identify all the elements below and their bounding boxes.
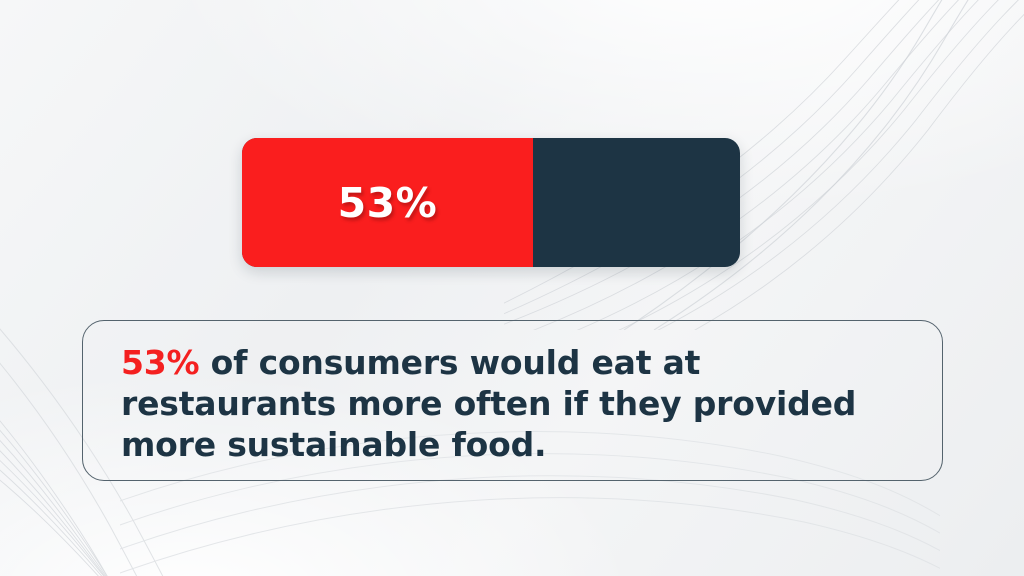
infographic-canvas: 53% 53% of consumers would eat at restau…: [0, 0, 1024, 576]
statement-card: 53% of consumers would eat at restaurant…: [82, 320, 943, 481]
percentage-bar: 53%: [242, 138, 740, 267]
statement-highlight: 53%: [121, 343, 199, 382]
statement-text: 53% of consumers would eat at restaurant…: [121, 342, 922, 465]
statement-body: of consumers would eat at restaurants mo…: [121, 343, 856, 464]
percentage-bar-label: 53%: [242, 138, 533, 267]
